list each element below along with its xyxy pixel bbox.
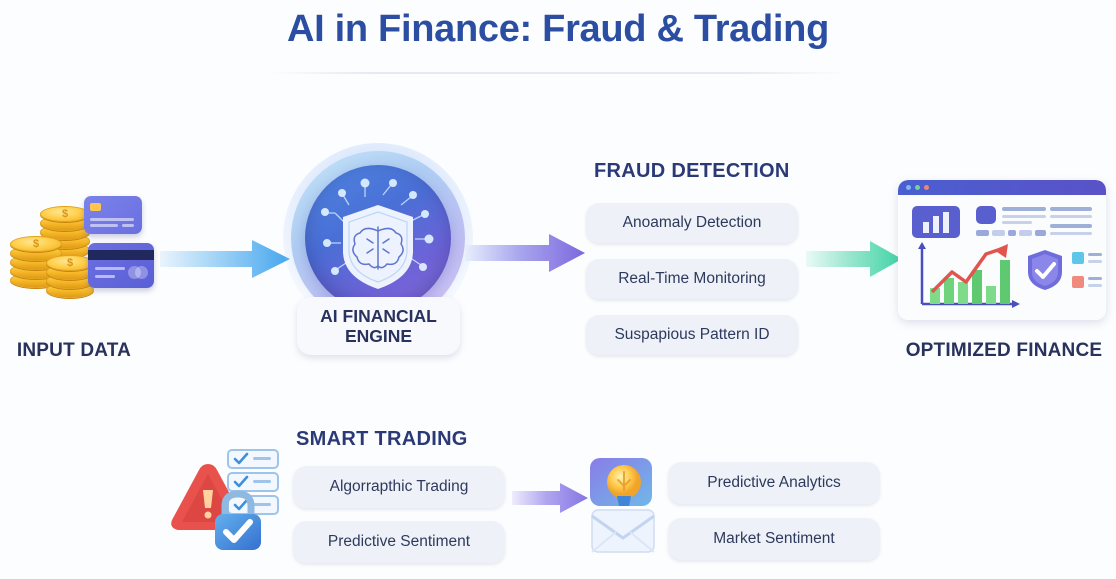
arrow-engine-to-fraud (465, 232, 585, 274)
dashboard-text-line (1002, 215, 1046, 218)
dashboard-chip (992, 230, 1005, 236)
fraud-alert-icon-group (168, 448, 288, 560)
input-data-label: INPUT DATA (0, 340, 148, 362)
trend-arrow-icon (912, 242, 1020, 314)
legend-line (1088, 284, 1102, 287)
arrow-input-to-engine (160, 238, 290, 280)
ai-financial-engine-label: AI FINANCIAL ENGINE (297, 297, 460, 355)
dashboard-text-line (1002, 207, 1046, 211)
window-dot-red (924, 185, 929, 190)
insight-icon-group (588, 456, 660, 560)
trading-item-algorithmic-trading[interactable]: Algorrapthic Trading (293, 466, 505, 508)
legend-line (1088, 260, 1102, 263)
dashboard-chip (1008, 230, 1016, 236)
dashboard-chip (1035, 230, 1046, 236)
title-divider (268, 72, 848, 74)
legend-swatch-blue (1072, 252, 1084, 264)
envelope-icon (590, 506, 656, 556)
shield-check-icon (1026, 248, 1064, 292)
trading-item-market-sentiment[interactable]: Market Sentiment (668, 518, 880, 560)
page-title: AI in Finance: Fraud & Trading (0, 8, 1116, 51)
arrow-trading-left-to-right (512, 482, 588, 514)
arrow-fraud-to-output (806, 240, 902, 278)
credit-card-upper (84, 196, 142, 234)
dashboard-text-line (1050, 224, 1092, 228)
credit-card-lower (88, 243, 154, 288)
lock-check-icon (208, 486, 268, 552)
dashboard-text-line (1050, 215, 1092, 218)
trading-item-predictive-analytics[interactable]: Predictive Analytics (668, 462, 880, 504)
legend-line (1088, 253, 1102, 256)
brain-shield-circuit-icon (305, 165, 451, 311)
window-dot-green (915, 185, 920, 190)
dashboard-chip (1019, 230, 1032, 236)
legend-line (1088, 277, 1102, 280)
trading-item-predictive-sentiment[interactable]: Predictive Sentiment (293, 521, 505, 563)
smart-trading-heading: SMART TRADING (296, 428, 468, 451)
input-data-icon-group: $ $ $ (8, 190, 168, 310)
bar-chart-icon (912, 206, 960, 238)
dashboard-text-line (1002, 221, 1032, 224)
window-dot-blue (906, 185, 911, 190)
dashboard-text-line (1050, 232, 1092, 235)
fraud-item-anomaly-detection[interactable]: Anoamaly Detection (586, 203, 798, 243)
infographic-canvas: AI in Finance: Fraud & Trading $ $ $ (0, 0, 1116, 579)
fraud-item-suspicious-pattern-id[interactable]: Suspapious Pattern ID (586, 315, 798, 355)
dashboard-tile-square (976, 206, 996, 224)
dashboard-titlebar (898, 180, 1106, 195)
fraud-detection-heading: FRAUD DETECTION (594, 160, 790, 183)
dashboard-chip (976, 230, 989, 236)
legend-swatch-orange (1072, 276, 1084, 288)
dashboard-text-line (1050, 207, 1092, 211)
fraud-item-real-time-monitoring[interactable]: Real-Time Monitoring (586, 259, 798, 299)
optimized-finance-label: OPTIMIZED FINANCE (892, 340, 1116, 362)
analytics-dashboard-icon (898, 180, 1106, 320)
